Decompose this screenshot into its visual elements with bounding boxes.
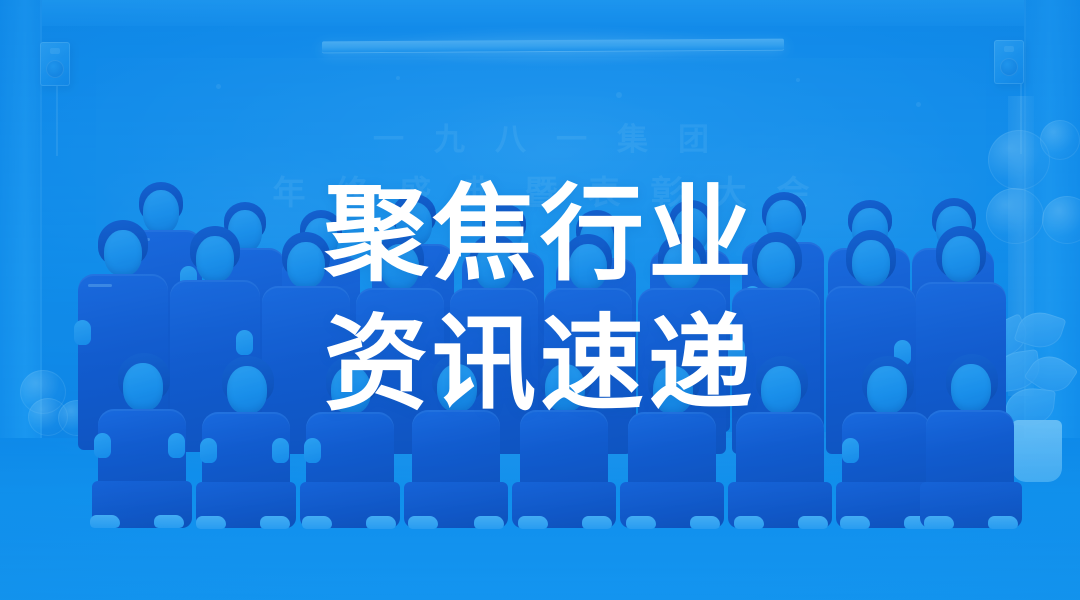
vignette (0, 0, 1080, 600)
photo-scene: 一九八一集团 年终盛典暨表彰大会 (0, 0, 1080, 600)
banner-image: 一九八一集团 年终盛典暨表彰大会 (0, 0, 1080, 600)
